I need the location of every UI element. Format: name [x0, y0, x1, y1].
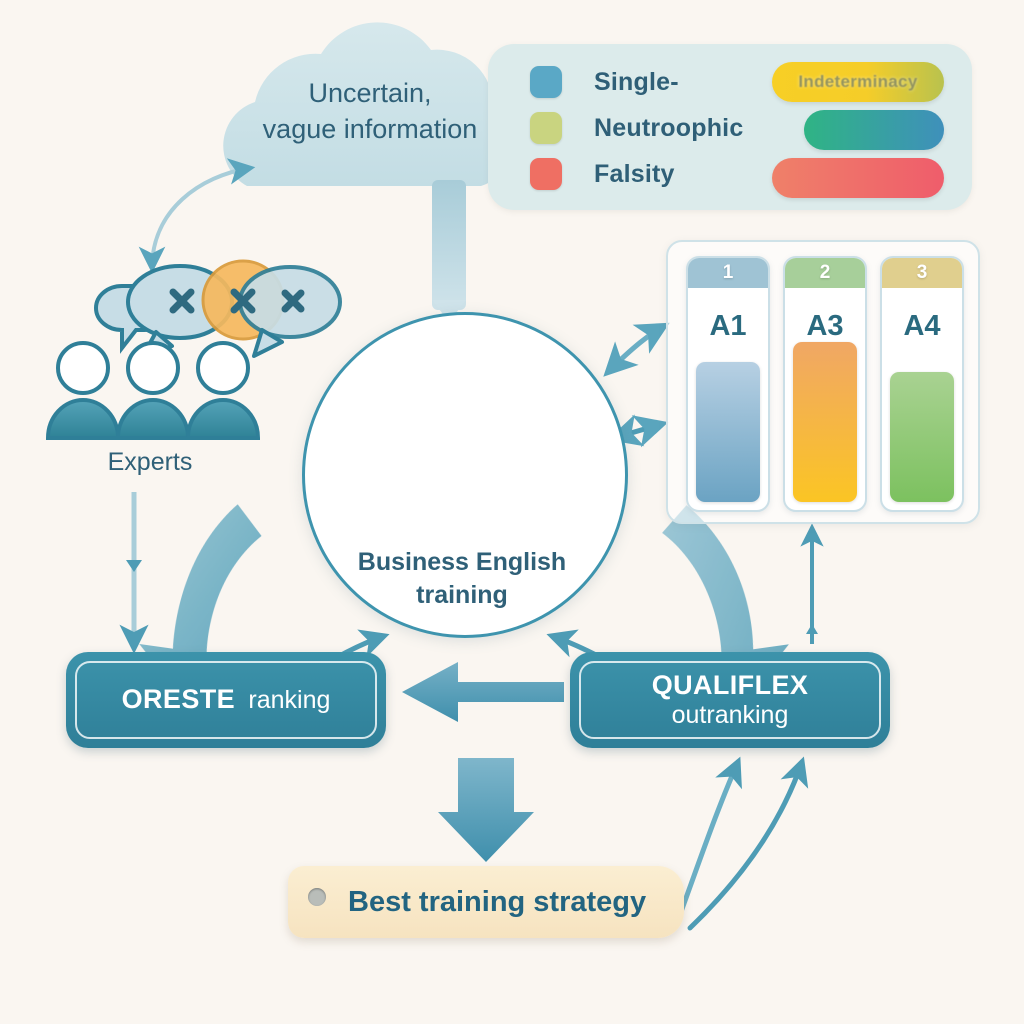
to-result-arrow — [438, 758, 534, 862]
diagram-canvas: Single- Neutroophic Falsity Indeterminac… — [0, 0, 1024, 1024]
alternative-card-1[interactable]: 1 A1 — [686, 256, 770, 512]
cloud-line-1: Uncertain, — [236, 76, 504, 112]
legend-swatch-single — [530, 66, 562, 98]
oreste-normal-label: ranking — [248, 686, 330, 714]
qualiflex-label: QUALIFLEX outranking — [652, 670, 809, 730]
experts-to-oreste-arrow — [126, 492, 142, 648]
hub-label-line-2: training — [322, 579, 602, 612]
alternative-rank-2: 2 — [785, 258, 865, 288]
legend-label-single: Single- — [594, 68, 679, 97]
alternative-bar-2 — [793, 342, 857, 502]
qualiflex-to-oreste-arrow — [402, 652, 564, 722]
qualiflex-to-alternatives-arrow — [806, 528, 818, 644]
oreste-strong-label: ORESTE — [122, 684, 235, 714]
result-to-qualiflex-arrows — [678, 762, 802, 928]
truth-bar — [804, 110, 944, 150]
legend-swatch-neutrosophic — [530, 112, 562, 144]
alternative-name-1: A1 — [688, 310, 768, 343]
best-training-strategy-tag[interactable]: Best training strategy — [288, 866, 684, 938]
indeterminacy-bar-label: Indeterminacy — [772, 62, 944, 102]
alternative-bar-3 — [890, 372, 954, 502]
best-training-strategy-label: Best training strategy — [348, 886, 646, 919]
qualiflex-outranking-box[interactable]: QUALIFLEX outranking — [570, 652, 890, 748]
legend-item-0: Single- — [530, 60, 679, 104]
oreste-label: ORESTE ranking — [122, 684, 331, 715]
legend-label-neutrosophic: Neutroophic — [594, 114, 743, 143]
qualiflex-normal-label: outranking — [652, 701, 809, 730]
alternative-name-2: A3 — [785, 310, 865, 343]
hub-label: Business English training — [322, 546, 602, 611]
experts-illustration — [48, 261, 340, 438]
alternative-card-2[interactable]: 2 A3 — [783, 256, 867, 512]
alternative-card-3[interactable]: 3 A4 — [880, 256, 964, 512]
falsity-bar — [772, 158, 944, 198]
oreste-ranking-box[interactable]: ORESTE ranking — [66, 652, 386, 748]
alternative-name-3: A4 — [882, 310, 962, 343]
cloud-experts-arrow — [152, 168, 250, 268]
legend-swatch-falsity — [530, 158, 562, 190]
legend-panel: Single- Neutroophic Falsity Indeterminac… — [488, 44, 972, 210]
qualiflex-strong-label: QUALIFLEX — [652, 670, 809, 701]
alternatives-ranking-panel: 1 A1 2 A3 3 A4 — [666, 240, 980, 524]
tag-hole-icon — [308, 888, 326, 906]
hub-label-line-1: Business English — [322, 546, 602, 579]
indeterminacy-bar: Indeterminacy — [772, 62, 944, 102]
alternative-bar-1 — [696, 362, 760, 502]
cloud-line-2: vague information — [236, 112, 504, 148]
alternative-rank-3: 3 — [882, 258, 962, 288]
uncertainty-cloud-shape — [223, 22, 512, 322]
legend-label-falsity: Falsity — [594, 160, 675, 189]
experts-label: Experts — [60, 448, 240, 477]
alternative-rank-1: 1 — [688, 258, 768, 288]
legend-item-1: Neutroophic — [530, 106, 743, 150]
uncertainty-cloud-label: Uncertain, vague information — [236, 76, 504, 147]
legend-item-2: Falsity — [530, 152, 675, 196]
